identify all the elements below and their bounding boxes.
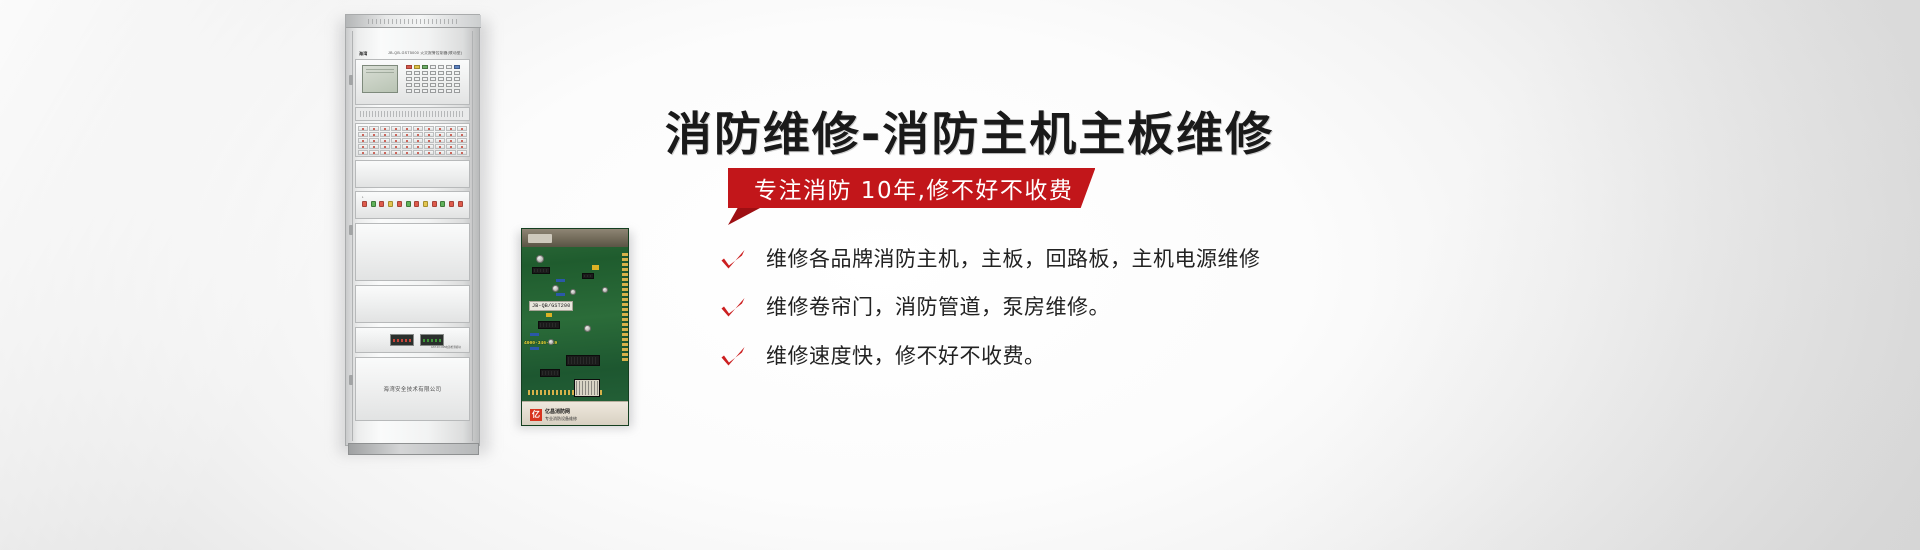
page-title: 消防维修-消防主机主板维修	[665, 98, 1274, 164]
feature-list: 维修各品牌消防主机，主板，回路板，主机电源维修 维修卷帘门，消防管道，泵房维修。…	[720, 245, 1820, 390]
cabinet-blank-panel	[355, 223, 470, 281]
cabinet-vent-panel	[355, 107, 470, 121]
banner-content: 消防维修-消防主机主板维修 专注消防 10年,修不好不收费 维修各品牌消防主机，…	[660, 0, 1900, 550]
feature-text: 维修卷帘门，消防管道，泵房维修。	[766, 293, 1110, 321]
cabinet-voltage-meter	[390, 334, 414, 346]
cabinet-hinge	[349, 375, 353, 385]
pcb-ic-chip	[538, 321, 560, 329]
pcb-capacitor	[548, 339, 554, 345]
tagline-bar: 专注消防 10年,修不好不收费	[728, 168, 1095, 208]
pcb-resistor	[530, 333, 539, 336]
list-item: 维修卷帘门，消防管道，泵房维修。	[720, 293, 1820, 321]
pcb-ic-chip	[532, 267, 550, 274]
cabinet-indicator-panel: L	[355, 191, 470, 219]
cabinet-brand-label: 海湾	[359, 51, 367, 57]
cabinet-lcd-display	[362, 65, 398, 93]
check-icon	[720, 297, 746, 321]
cabinet-hinge	[349, 75, 353, 85]
pcb-resistor	[530, 347, 539, 350]
pcb-resistor	[556, 293, 565, 296]
cabinet-blank-panel	[355, 160, 470, 188]
pcb-ic-chip	[582, 273, 594, 279]
check-icon	[720, 346, 746, 370]
cabinet-keypad	[406, 65, 464, 95]
watermark-logo: 亿	[530, 409, 542, 421]
pcb-capacitor	[602, 287, 608, 293]
watermark-subtitle: 专业消防设备维修	[545, 416, 577, 421]
pcb-top-bracket	[522, 229, 628, 247]
ribbon-tail	[728, 208, 760, 225]
pcb-resistor	[556, 279, 565, 282]
watermark: 亿 亿昌消防网 专业消防设备维修	[530, 409, 577, 421]
cabinet-top-vent	[346, 15, 481, 28]
pcb-capacitor	[584, 325, 591, 332]
feature-text: 维修各品牌消防主机，主板，回路板，主机电源维修	[766, 245, 1261, 273]
pcb-capacitor	[570, 289, 576, 295]
cabinet-model-label: JB-QB-GST5000 火灾报警控制器(联动型)	[388, 51, 462, 56]
cabinet-lamp-label: L	[362, 196, 363, 199]
check-icon	[720, 249, 746, 273]
cabinet-blank-panel	[355, 285, 470, 323]
list-item: 维修各品牌消防主机，主板，回路板，主机电源维修	[720, 245, 1820, 273]
pcb-body: JB-QB/GST200 4000-346-119 亿	[521, 228, 629, 426]
cabinet-power-panel: GST-DY-035电源检测模块	[355, 327, 470, 353]
list-item: 维修速度快，修不好不收费。	[720, 342, 1820, 370]
pcb-edge-connector	[622, 253, 628, 363]
cabinet-base	[348, 443, 479, 455]
cabinet-footer-logo: 海湾安全技术有限公司	[346, 385, 479, 393]
promo-banner: 海湾 JB-QB-GST5000 火灾报警控制器(联动型)	[0, 0, 1920, 550]
pcb-capacitor	[536, 255, 544, 263]
cabinet-meter-caption: GST-DY-035电源检测模块	[431, 345, 461, 349]
cabinet-hinge	[349, 225, 353, 235]
cabinet-indicator-row	[362, 201, 463, 207]
tagline-ribbon: 专注消防 10年,修不好不收费	[728, 168, 1095, 214]
fire-alarm-control-cabinet-image: 海湾 JB-QB-GST5000 火灾报警控制器(联动型)	[345, 14, 480, 454]
pcb-part-label: JB-QB/GST200	[529, 301, 573, 311]
pcb-ic-chip	[566, 355, 600, 366]
tagline-text: 专注消防 10年,修不好不收费	[754, 171, 1073, 205]
pcb-board-image: JB-QB/GST200 4000-346-119 亿	[521, 228, 629, 426]
cabinet-module-rack	[355, 123, 470, 157]
cabinet-body: 海湾 JB-QB-GST5000 火灾报警控制器(联动型)	[345, 14, 480, 446]
pcb-ic-chip	[540, 369, 560, 377]
pcb-diode	[546, 313, 552, 317]
pcb-diode	[592, 265, 599, 270]
cabinet-door-edge-right	[472, 31, 473, 441]
pcb-eprom-chip	[574, 379, 600, 397]
pcb-capacitor	[552, 285, 559, 292]
pcb-bottom-bracket: 亿 亿昌消防网 专业消防设备维修	[522, 401, 628, 425]
feature-text: 维修速度快，修不好不收费。	[766, 342, 1046, 370]
